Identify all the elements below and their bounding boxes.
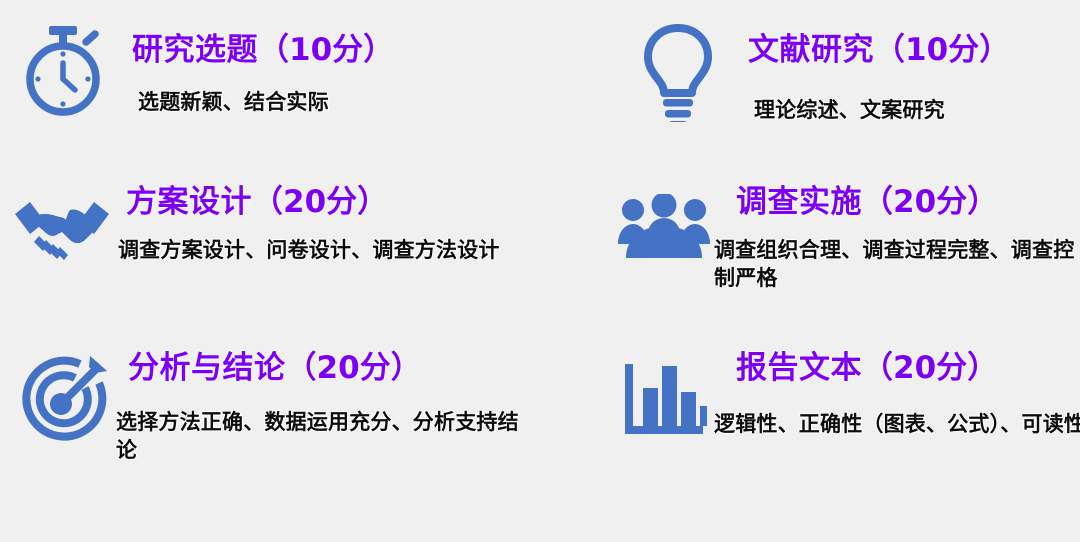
criteria-cell-literature-review: 文献研究（10分） 理论综述、文案研究 (540, 0, 1080, 172)
criteria-text-block: 报告文本（20分） 逻辑性、正确性（图表、公式）、可读性 (736, 352, 1080, 439)
criteria-title: 方案设计（20分） (126, 186, 526, 219)
criteria-text-block: 研究选题（10分） 选题新颖、结合实际 (132, 34, 532, 117)
criteria-title: 报告文本（20分） (736, 352, 1080, 385)
criteria-title: 研究选题（10分） (132, 34, 532, 67)
bar-chart-icon (614, 362, 714, 440)
criteria-description: 理论综述、文案研究 (754, 97, 1078, 125)
criteria-title: 文献研究（10分） (748, 34, 1078, 67)
criteria-cell-research-topic: 研究选题（10分） 选题新颖、结合实际 (0, 0, 540, 172)
criteria-title: 分析与结论（20分） (128, 352, 538, 385)
lightbulb-icon (630, 22, 726, 122)
target-arrow-icon (16, 352, 112, 446)
criteria-cell-plan-design: 方案设计（20分） 调查方案设计、问卷设计、调查方法设计 (0, 172, 540, 344)
criteria-title: 调查实施（20分） (736, 186, 1080, 219)
criteria-description: 选题新颖、结合实际 (138, 89, 532, 117)
criteria-description: 调查方案设计、问卷设计、调查方法设计 (118, 237, 526, 265)
stopwatch-icon (16, 22, 112, 118)
criteria-text-block: 文献研究（10分） 理论综述、文案研究 (748, 34, 1078, 125)
criteria-description: 逻辑性、正确性（图表、公式）、可读性 (714, 411, 1080, 439)
criteria-cell-report-text: 报告文本（20分） 逻辑性、正确性（图表、公式）、可读性 (540, 344, 1080, 542)
criteria-text-block: 调查实施（20分） 调查组织合理、调查过程完整、调查控制严格 (736, 186, 1080, 293)
criteria-cell-survey-execution: 调查实施（20分） 调查组织合理、调查过程完整、调查控制严格 (540, 172, 1080, 344)
criteria-description: 选择方法正确、数据运用充分、分析支持结论 (116, 409, 538, 464)
handshake-icon (12, 196, 112, 262)
criteria-text-block: 方案设计（20分） 调查方案设计、问卷设计、调查方法设计 (126, 186, 526, 265)
people-group-icon (614, 194, 714, 260)
criteria-description: 调查组织合理、调查过程完整、调查控制严格 (714, 237, 1080, 292)
criteria-text-block: 分析与结论（20分） 选择方法正确、数据运用充分、分析支持结论 (128, 352, 538, 465)
criteria-grid: 研究选题（10分） 选题新颖、结合实际 文献研究（10分） 理论综述、文案研究 (0, 0, 1080, 542)
criteria-cell-analysis-conclusion: 分析与结论（20分） 选择方法正确、数据运用充分、分析支持结论 (0, 344, 540, 542)
